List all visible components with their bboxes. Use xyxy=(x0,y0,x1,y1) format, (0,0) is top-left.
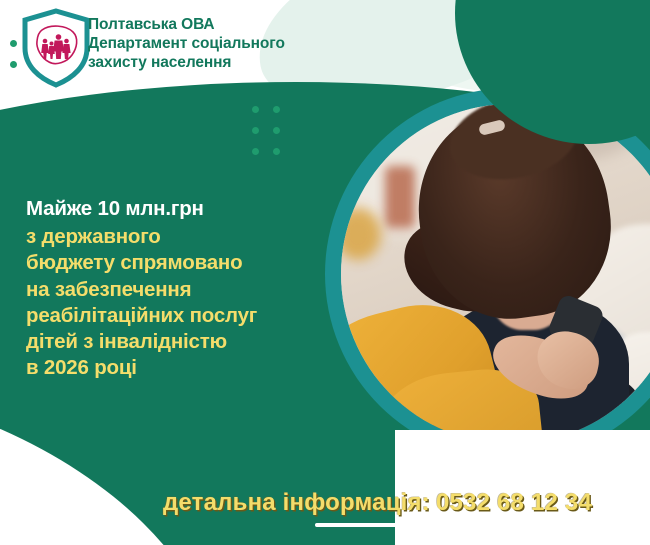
dot xyxy=(273,148,280,155)
photo-background-object-red xyxy=(385,166,415,228)
contact-underline xyxy=(315,523,411,527)
headline-lead: Майже 10 млн.грн xyxy=(26,196,356,222)
dot xyxy=(273,127,280,134)
dot xyxy=(252,106,259,113)
dot xyxy=(273,106,280,113)
dot xyxy=(10,40,17,47)
dot xyxy=(10,61,17,68)
contact-phone[interactable]: 0532 68 12 34 xyxy=(436,489,592,516)
dot xyxy=(252,148,259,155)
photo-scene xyxy=(341,104,650,444)
brand-title: Полтавська ОВА Департамент соціального з… xyxy=(88,16,285,73)
girl-in-wheelchair-photo xyxy=(341,104,650,444)
dot xyxy=(252,127,259,134)
headline-block: Майже 10 млн.грн з державного бюджету сп… xyxy=(26,196,356,382)
poster-canvas: Полтавська ОВА Департамент соціального з… xyxy=(0,0,650,545)
contact-label: детальна інформація: xyxy=(163,489,430,516)
dot-grid-middle xyxy=(252,106,280,155)
headline-body: з державного бюджету спрямовано на забез… xyxy=(26,224,356,381)
white-area-bottom-right xyxy=(395,430,650,545)
shield-with-region-map-and-family-silhouettes-icon xyxy=(20,8,92,88)
contact-line: детальна інформація:0532 68 12 34 xyxy=(163,489,592,517)
